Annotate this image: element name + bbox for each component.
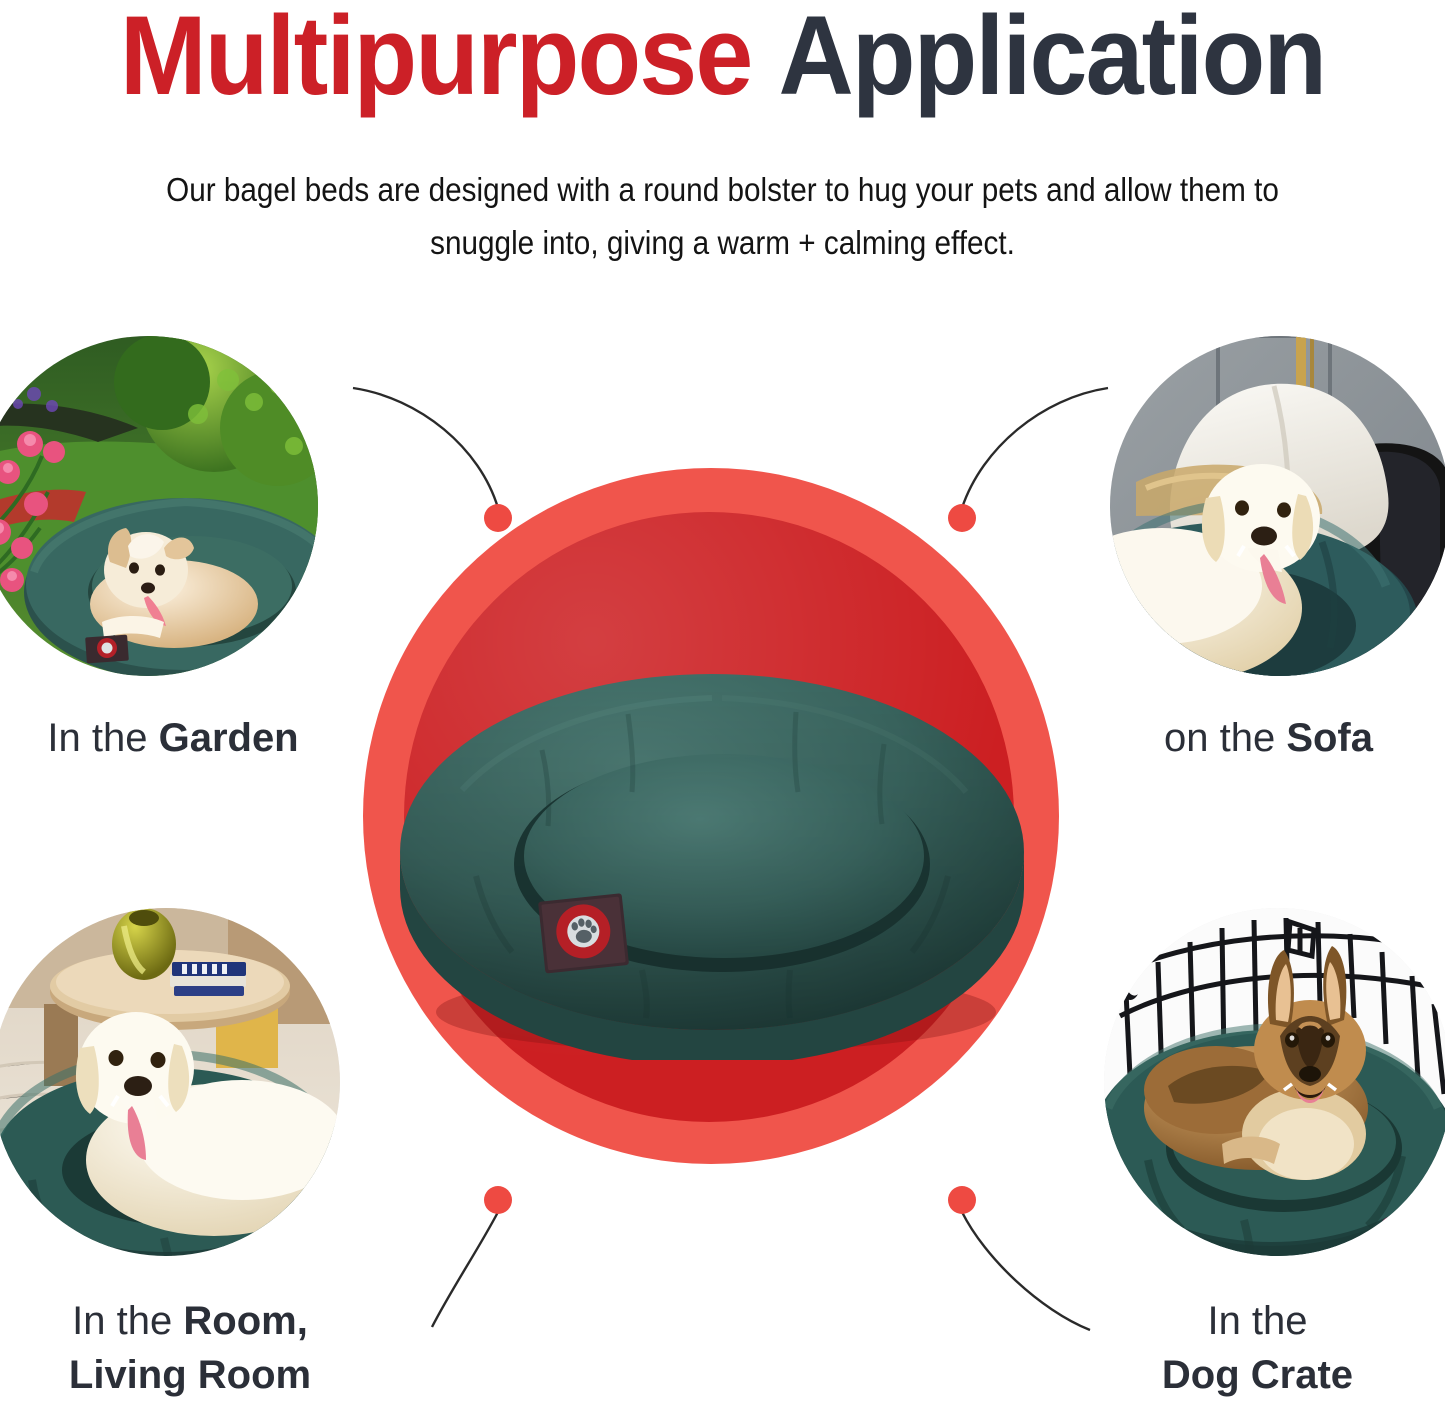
caption-sofa-normal: on the: [1164, 716, 1286, 760]
subtitle-line-2: snuggle into, giving a warm + calming ef…: [117, 216, 1328, 269]
caption-living-room-line-2: Living Room: [0, 1348, 380, 1402]
connector-line-garden: [353, 388, 498, 508]
caption-living-room: In the Room, Living Room: [0, 1294, 380, 1402]
title-word-multipurpose: Multipurpose: [120, 0, 752, 118]
connector-line-sofa: [962, 388, 1108, 508]
caption-garden: In the Garden: [0, 711, 346, 765]
caption-living-room-line-1: In the Room,: [0, 1294, 380, 1348]
caption-living-room-bold-2: Living Room: [69, 1353, 311, 1397]
caption-dog-crate-normal: In the: [1207, 1299, 1307, 1343]
caption-garden-bold: Garden: [159, 716, 299, 760]
scene-photo-living-room[interactable]: [0, 908, 340, 1256]
scene-photo-dog-crate[interactable]: [1104, 908, 1445, 1256]
title-word-application: Application: [778, 0, 1325, 118]
caption-dog-crate: In the Dog Crate: [1070, 1294, 1445, 1402]
dot-bottom-right: [948, 1186, 976, 1214]
caption-dog-crate-line-2: Dog Crate: [1070, 1348, 1445, 1402]
scene-photo-garden[interactable]: [0, 336, 318, 676]
caption-sofa: on the Sofa: [1092, 711, 1445, 765]
caption-living-room-bold: Room,: [183, 1299, 307, 1343]
page-title: Multipurpose Application: [51, 0, 1395, 116]
dot-bottom-left: [484, 1186, 512, 1214]
hero-product-dog-bed: [392, 640, 1032, 1060]
caption-dog-crate-bold-2: Dog Crate: [1162, 1353, 1353, 1397]
infographic-canvas: Multipurpose Application Our bagel beds …: [0, 0, 1445, 1417]
subtitle-line-1: Our bagel beds are designed with a round…: [117, 163, 1328, 216]
caption-living-room-normal: In the: [72, 1299, 183, 1343]
caption-sofa-bold: Sofa: [1286, 716, 1373, 760]
product-brand-tag: [538, 893, 629, 973]
caption-garden-normal: In the: [47, 716, 158, 760]
caption-dog-crate-line-1: In the: [1070, 1294, 1445, 1348]
scene-photo-sofa[interactable]: [1110, 336, 1445, 676]
page-subtitle: Our bagel beds are designed with a round…: [117, 163, 1328, 269]
connector-line-room: [432, 1212, 498, 1327]
